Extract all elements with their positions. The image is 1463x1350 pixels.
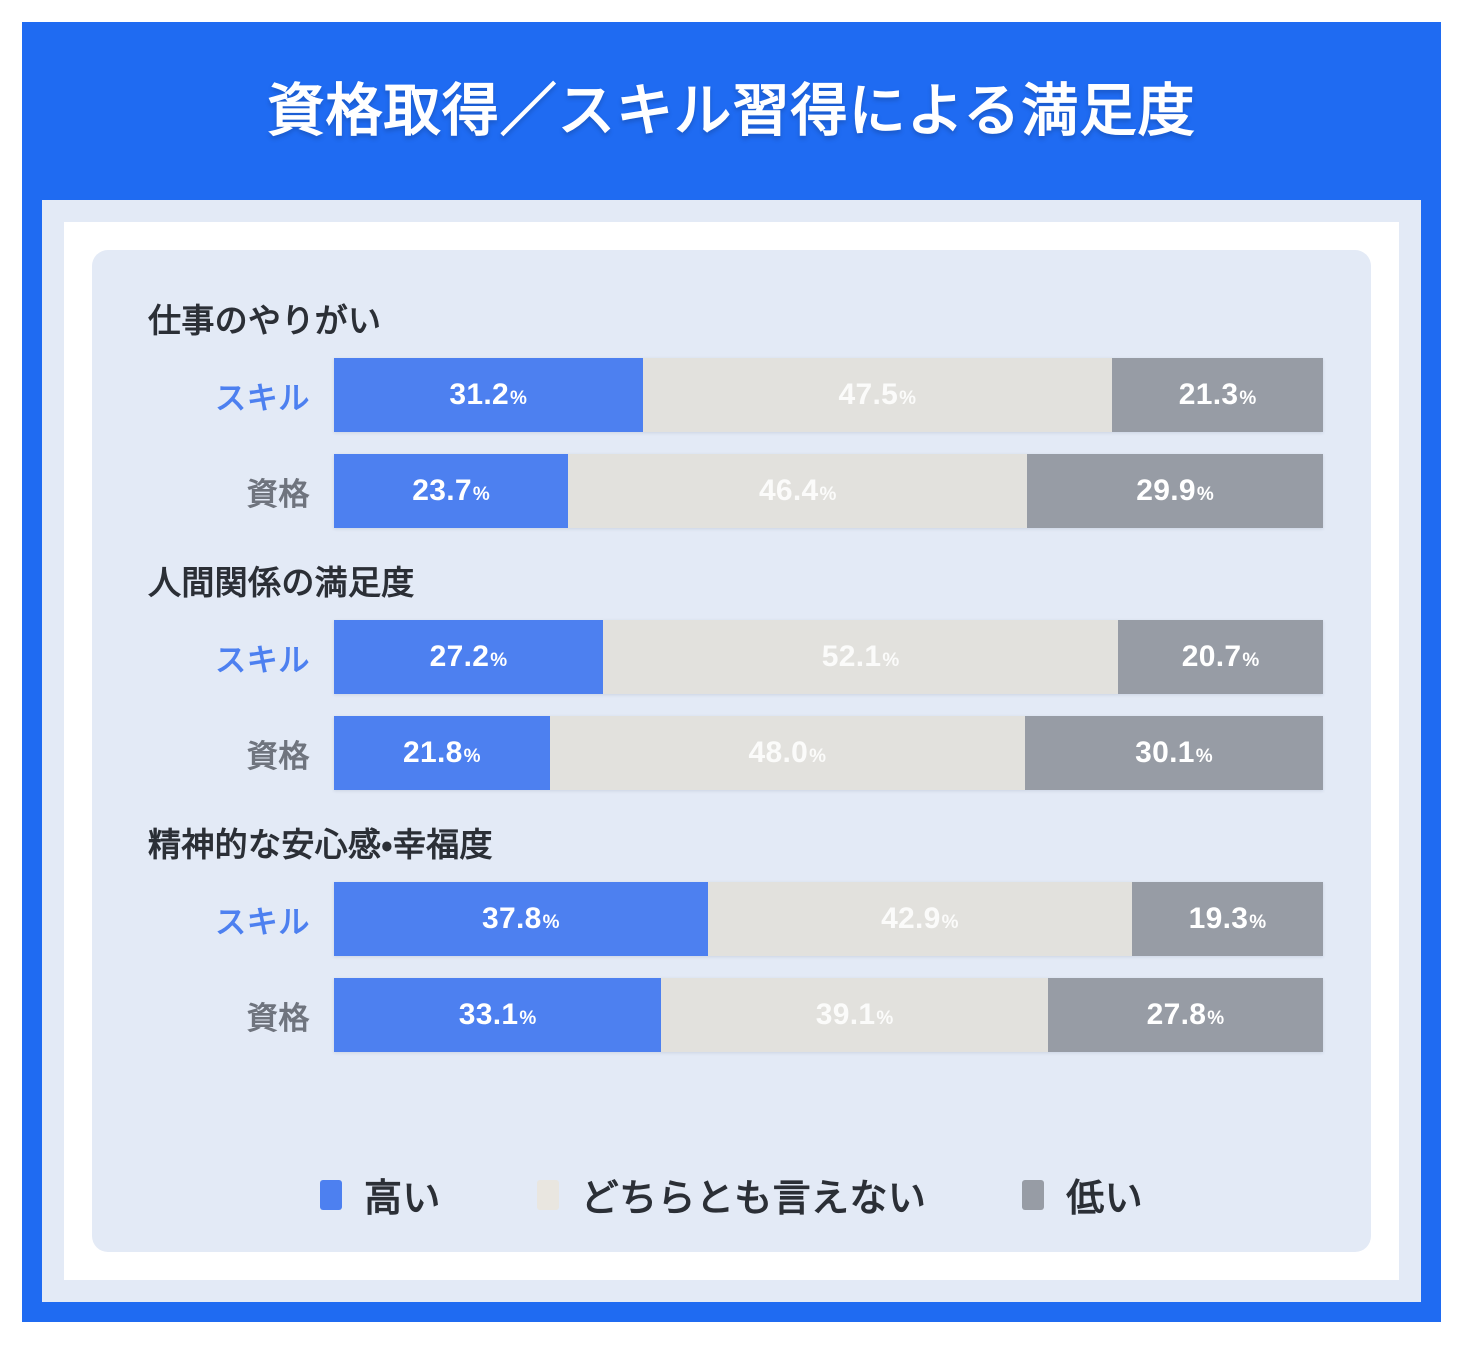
chart-group: 精神的な安心感・幸福度スキル37.8%42.9%19.3%資格33.1%39.1… [140, 818, 1323, 1052]
bar-row: 資格23.7%46.4%29.9% [140, 454, 1323, 528]
chart-card: 仕事のやりがいスキル31.2%47.5%21.3%資格23.7%46.4%29.… [92, 250, 1371, 1252]
legend-swatch-high-icon [320, 1180, 342, 1210]
bar-segment-low: 20.7% [1118, 620, 1323, 694]
bar-segment-high: 33.1% [334, 978, 661, 1052]
bar-row-label: スキル [140, 897, 334, 942]
bar-segment-value: 52.1% [822, 640, 900, 674]
blue-frame: 資格取得／スキル習得による満足度 仕事のやりがいスキル31.2%47.5%21.… [22, 22, 1441, 1322]
bar-track: 21.8%48.0%30.1% [334, 716, 1323, 790]
bar-segment-value: 20.7% [1182, 640, 1260, 674]
bar-segment-neutral: 42.9% [708, 882, 1132, 956]
bar-segment-low: 27.8% [1048, 978, 1323, 1052]
bar-segment-neutral: 39.1% [661, 978, 1048, 1052]
legend-label: 低い [1066, 1167, 1143, 1222]
bar-segment-value: 39.1% [816, 998, 894, 1032]
bar-row: 資格33.1%39.1%27.8% [140, 978, 1323, 1052]
bar-segment-value: 37.8% [482, 902, 560, 936]
bar-segment-high: 31.2% [334, 358, 643, 432]
legend-label: 高い [364, 1167, 441, 1222]
bar-segment-value: 42.9% [881, 902, 959, 936]
legend-swatch-neutral-icon [537, 1180, 559, 1210]
bar-segment-low: 30.1% [1025, 716, 1323, 790]
bar-segment-neutral: 46.4% [568, 454, 1027, 528]
bar-segment-value: 33.1% [459, 998, 537, 1032]
bar-row-label: スキル [140, 373, 334, 418]
group-title: 人間関係の満足度 [148, 556, 1323, 604]
chart-legend: 高いどちらとも言えない低い [140, 1141, 1323, 1222]
bar-segment-value: 27.8% [1147, 998, 1225, 1032]
bar-row: スキル27.2%52.1%20.7% [140, 620, 1323, 694]
bar-segment-low: 29.9% [1027, 454, 1323, 528]
bar-segment-high: 27.2% [334, 620, 603, 694]
bar-segment-neutral: 47.5% [643, 358, 1113, 432]
bar-segment-low: 21.3% [1112, 358, 1323, 432]
bar-track: 37.8%42.9%19.3% [334, 882, 1323, 956]
frame-outer: 仕事のやりがいスキル31.2%47.5%21.3%資格23.7%46.4%29.… [42, 200, 1421, 1302]
legend-item: どちらとも言えない [537, 1167, 926, 1222]
bar-segment-value: 21.3% [1179, 378, 1257, 412]
bar-row-label: スキル [140, 635, 334, 680]
bar-row-label: 資格 [140, 993, 334, 1038]
bar-row: スキル37.8%42.9%19.3% [140, 882, 1323, 956]
legend-item: 高い [320, 1167, 441, 1222]
bar-segment-high: 23.7% [334, 454, 568, 528]
group-title: 仕事のやりがい [148, 294, 1323, 342]
legend-item: 低い [1022, 1167, 1143, 1222]
bar-segment-value: 46.4% [759, 474, 837, 508]
bar-segment-value: 19.3% [1189, 902, 1267, 936]
bar-segment-value: 27.2% [430, 640, 508, 674]
bar-track: 31.2%47.5%21.3% [334, 358, 1323, 432]
bar-segment-value: 29.9% [1136, 474, 1214, 508]
chart-group: 人間関係の満足度スキル27.2%52.1%20.7%資格21.8%48.0%30… [140, 556, 1323, 790]
bar-row: スキル31.2%47.5%21.3% [140, 358, 1323, 432]
chart-group: 仕事のやりがいスキル31.2%47.5%21.3%資格23.7%46.4%29.… [140, 294, 1323, 528]
bar-segment-high: 37.8% [334, 882, 708, 956]
bar-row: 資格21.8%48.0%30.1% [140, 716, 1323, 790]
bar-segment-neutral: 48.0% [550, 716, 1025, 790]
bar-segment-value: 31.2% [449, 378, 527, 412]
bar-segment-neutral: 52.1% [603, 620, 1118, 694]
bar-track: 33.1%39.1%27.8% [334, 978, 1323, 1052]
chart-groups: 仕事のやりがいスキル31.2%47.5%21.3%資格23.7%46.4%29.… [140, 294, 1323, 1052]
bar-segment-value: 30.1% [1135, 736, 1213, 770]
page-title: 資格取得／スキル習得による満足度 [267, 77, 1196, 145]
frame-inner: 仕事のやりがいスキル31.2%47.5%21.3%資格23.7%46.4%29.… [64, 222, 1399, 1280]
group-title: 精神的な安心感・幸福度 [148, 818, 1323, 866]
bar-row-label: 資格 [140, 469, 334, 514]
title-bar: 資格取得／スキル習得による満足度 [22, 22, 1441, 200]
bar-track: 23.7%46.4%29.9% [334, 454, 1323, 528]
bar-track: 27.2%52.1%20.7% [334, 620, 1323, 694]
bar-segment-value: 23.7% [412, 474, 490, 508]
legend-swatch-low-icon [1022, 1180, 1044, 1210]
bar-segment-value: 48.0% [749, 736, 827, 770]
bar-segment-value: 47.5% [839, 378, 917, 412]
bar-segment-low: 19.3% [1132, 882, 1323, 956]
bar-segment-value: 21.8% [403, 736, 481, 770]
bar-segment-high: 21.8% [334, 716, 550, 790]
bar-row-label: 資格 [140, 731, 334, 776]
poster-root: 資格取得／スキル習得による満足度 仕事のやりがいスキル31.2%47.5%21.… [0, 0, 1463, 1350]
legend-label: どちらとも言えない [581, 1167, 926, 1222]
